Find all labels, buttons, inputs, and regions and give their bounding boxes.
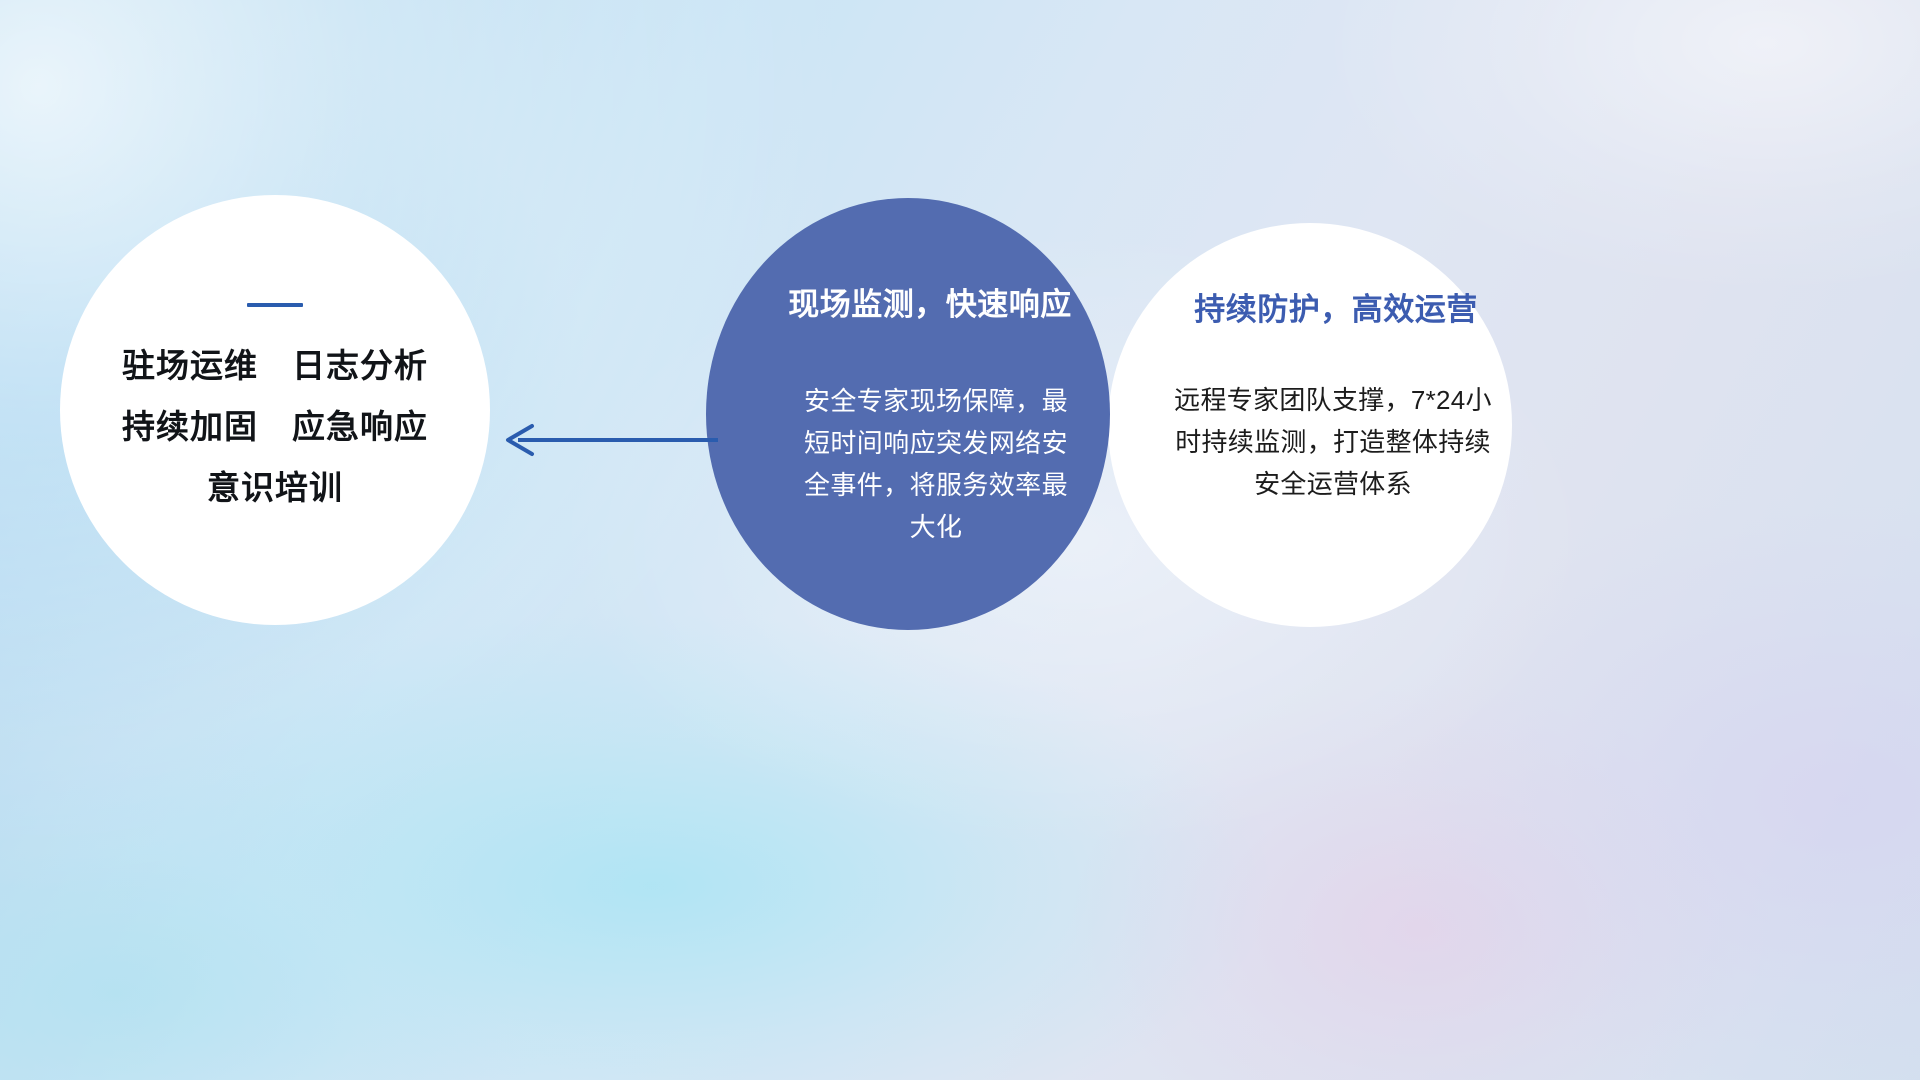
middle-circle-title: 现场监测，快速响应 [788, 288, 1072, 322]
left-circle-divider-icon [247, 303, 303, 307]
right-circle-title: 持续防护，高效运营 [1194, 293, 1478, 327]
keyword-item: 意识培训 [207, 471, 343, 504]
keyword-item: 持续加固 [122, 410, 258, 443]
right-circle-body: 远程专家团队支撑，7*24小时持续监测，打造整体持续安全运营体系 [1163, 379, 1503, 505]
keyword-item: 应急响应 [292, 410, 428, 443]
keyword-row: 意识培训 [207, 471, 343, 504]
keyword-item: 驻场运维 [122, 349, 258, 382]
keyword-item: 日志分析 [292, 349, 428, 382]
keyword-row: 驻场运维 日志分析 [122, 349, 428, 382]
slide-canvas: 驻场运维 日志分析 持续加固 应急响应 意识培训 现场监测，快速响应 安全专家现… [0, 0, 1920, 1080]
middle-circle-content: 现场监测，快速响应 安全专家现场保障，最短时间响应突发网络安全事件，将服务效率最… [706, 198, 1110, 630]
connector-arrow [492, 412, 718, 468]
right-circle-content: 持续防护，高效运营 远程专家团队支撑，7*24小时持续监测，打造整体持续安全运营… [1108, 223, 1512, 627]
middle-circle-body: 安全专家现场保障，最短时间响应突发网络安全事件，将服务效率最大化 [797, 380, 1075, 548]
left-circle-content: 驻场运维 日志分析 持续加固 应急响应 意识培训 [60, 195, 490, 625]
keyword-row: 持续加固 应急响应 [122, 410, 428, 443]
